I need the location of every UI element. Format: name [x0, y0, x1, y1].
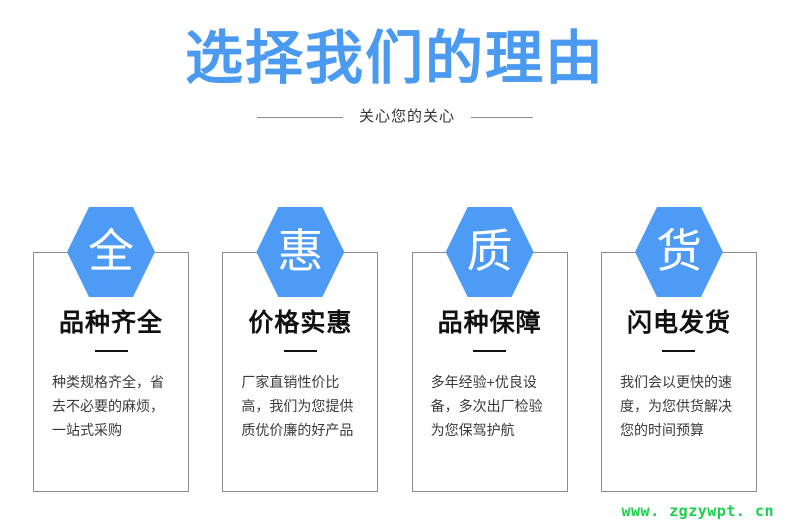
banner-header: 选择我们的理由 关心您的关心	[0, 0, 790, 126]
feature-card: 全 品种齐全 种类规格齐全，省去不必要的麻烦，一站式采购	[33, 207, 189, 442]
feature-card-title: 价格实惠	[222, 308, 378, 338]
feature-card-title: 闪电发货	[601, 308, 757, 338]
feature-card-divider	[662, 350, 695, 352]
feature-card-divider	[473, 350, 506, 352]
feature-card: 货 闪电发货 我们会以更快的速度，为您供货解决您的时间预算	[601, 207, 757, 442]
feature-card-content: 品种齐全 种类规格齐全，省去不必要的麻烦，一站式采购	[33, 207, 189, 442]
subtitle-divider-right	[471, 117, 533, 118]
page-subtitle: 关心您的关心	[359, 108, 455, 126]
promo-banner: 选择我们的理由 关心您的关心 全 品种齐全 种类规格齐全，省去不必要的麻烦，一站…	[0, 0, 790, 526]
feature-card: 惠 价格实惠 厂家直销性价比高，我们为您提供质优价廉的好产品	[222, 207, 378, 442]
feature-card-list: 全 品种齐全 种类规格齐全，省去不必要的麻烦，一站式采购 惠 价格实惠 厂家直销…	[33, 207, 757, 442]
feature-card-divider	[95, 350, 128, 352]
feature-card-title: 品种保障	[412, 308, 568, 338]
feature-card: 质 品种保障 多年经验+优良设备，多次出厂检验为您保驾护航	[412, 207, 568, 442]
feature-card-description: 我们会以更快的速度，为您供货解决您的时间预算	[620, 370, 738, 442]
subtitle-divider-left	[257, 117, 343, 118]
feature-card-content: 闪电发货 我们会以更快的速度，为您供货解决您的时间预算	[601, 207, 757, 442]
feature-card-description: 多年经验+优良设备，多次出厂检验为您保驾护航	[431, 370, 549, 442]
feature-card-content: 价格实惠 厂家直销性价比高，我们为您提供质优价廉的好产品	[222, 207, 378, 442]
subtitle-row: 关心您的关心	[0, 108, 790, 126]
page-title: 选择我们的理由	[0, 0, 790, 92]
feature-card-content: 品种保障 多年经验+优良设备，多次出厂检验为您保驾护航	[412, 207, 568, 442]
feature-card-divider	[284, 350, 317, 352]
feature-card-description: 厂家直销性价比高，我们为您提供质优价廉的好产品	[241, 370, 359, 442]
feature-card-title: 品种齐全	[33, 308, 189, 338]
feature-card-description: 种类规格齐全，省去不必要的麻烦，一站式采购	[52, 370, 170, 442]
site-watermark: www. zgzywpt. cn	[622, 502, 775, 520]
